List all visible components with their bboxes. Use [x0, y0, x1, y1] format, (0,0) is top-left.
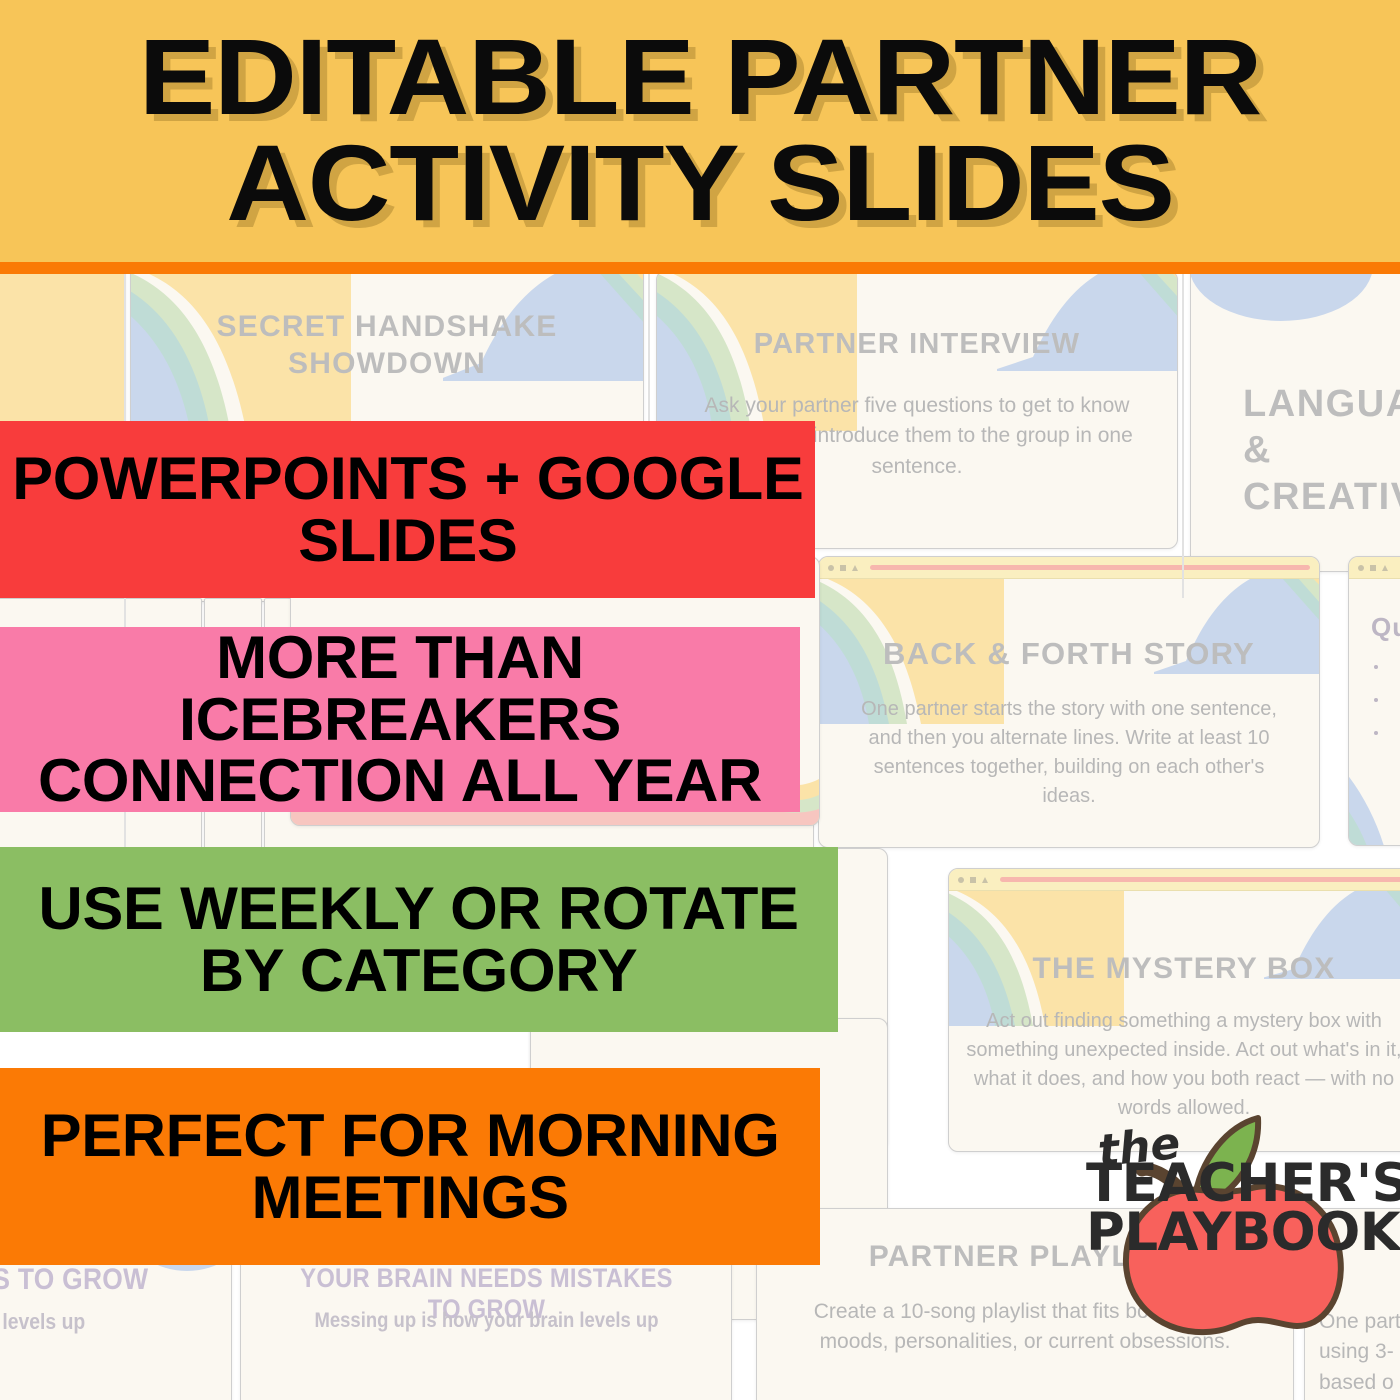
window-addressbar	[1000, 877, 1400, 882]
feature-banner-text: USE WEEKLY OR ROTATE BY CATEGORY	[39, 878, 799, 1002]
poster-header: EDITABLE PARTNER ACTIVITY SLIDES	[0, 0, 1400, 262]
feature-banner-weekly-rotate: USE WEEKLY OR ROTATE BY CATEGORY	[0, 847, 838, 1032]
window-triangle-icon	[1382, 565, 1388, 571]
brand-logo: the TEACHER'S PLAYBOOK	[1082, 1108, 1350, 1340]
slide-card-back-and-forth: BACK & FORTH STORY One partner starts th…	[818, 556, 1320, 848]
slide-title: MISTAKES TO GROW	[0, 1263, 185, 1297]
slide-title: Qu	[1371, 612, 1400, 644]
window-dot-icon	[828, 565, 834, 571]
feature-banner-morning-meetings: PERFECT FOR MORNING MEETINGS	[0, 1068, 820, 1265]
window-square-icon	[840, 565, 846, 571]
slide-title: SECRET HANDSHAKE SHOWDOWN	[162, 309, 613, 382]
logo-word-main: TEACHER'S PLAYBOOK	[1086, 1160, 1348, 1258]
feature-banner-text: PERFECT FOR MORNING MEETINGS	[41, 1105, 780, 1229]
window-chrome	[949, 869, 1400, 891]
slide-body: One partner starts the story with one se…	[849, 695, 1289, 811]
poster-stage: EL SECRET HANDSHAKE SHOWDOWN	[0, 0, 1400, 1400]
window-chrome	[1349, 557, 1400, 579]
feature-banner-icebreakers: MORE THAN ICEBREAKERS CONNECTION ALL YEA…	[0, 627, 800, 812]
list-item	[1389, 691, 1400, 708]
slide-title: THE MYSTERY BOX	[977, 951, 1391, 988]
slide-bullet-list	[1385, 658, 1400, 757]
slide-title: PARTNER INTERVIEW	[688, 327, 1146, 362]
blob-decor-icon	[1190, 271, 1381, 341]
window-triangle-icon	[982, 877, 988, 883]
feature-banner-text: POWERPOINTS + GOOGLE SLIDES	[12, 448, 803, 572]
window-square-icon	[1370, 565, 1376, 571]
page-title: EDITABLE PARTNER ACTIVITY SLIDES	[0, 24, 1400, 236]
window-dot-icon	[1358, 565, 1364, 571]
feature-banner-powerpoints: POWERPOINTS + GOOGLE SLIDES	[0, 421, 815, 598]
window-triangle-icon	[852, 565, 858, 571]
slide-body: Messing up is how your brain levels up	[292, 1309, 680, 1333]
feature-banner-text: MORE THAN ICEBREAKERS CONNECTION ALL YEA…	[0, 627, 808, 812]
window-square-icon	[970, 877, 976, 883]
window-dot-icon	[958, 877, 964, 883]
slide-gutter	[1182, 268, 1184, 598]
slide-title: LANGUAGE & CREATIVITY	[1243, 381, 1400, 520]
slide-card-language-creativity: LANGUAGE & CREATIVITY	[1190, 270, 1400, 572]
window-chrome	[819, 557, 1319, 579]
slide-body: r brain levels up	[0, 1309, 185, 1335]
window-addressbar	[870, 565, 1310, 570]
slide-card-questions-list: Qu	[1348, 556, 1400, 846]
slide-body: Act out finding something a mystery box …	[958, 1007, 1400, 1123]
slide-title: BACK & FORTH STORY	[849, 635, 1289, 673]
header-divider	[0, 262, 1400, 274]
list-item	[1389, 724, 1400, 741]
list-item	[1389, 658, 1400, 675]
